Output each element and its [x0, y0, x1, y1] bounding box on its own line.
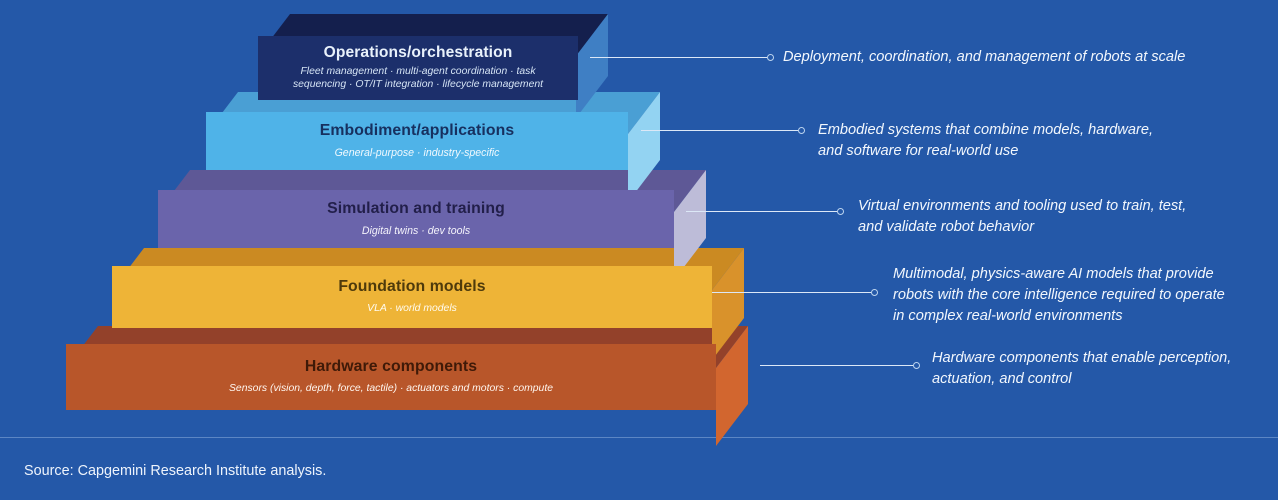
- callout-foundation: Multimodal, physics-aware AI models that…: [893, 264, 1225, 327]
- footer-divider: [0, 437, 1278, 438]
- layer-title-hardware: Hardware components: [305, 358, 477, 376]
- source-note: Source: Capgemini Research Institute ana…: [24, 463, 326, 479]
- layer-side-face-hardware: [716, 326, 752, 446]
- layer-front-face-simulation: Simulation and training Digital twins · …: [158, 190, 674, 248]
- layer-front-face-embodiment: Embodiment/applications General-purpose …: [206, 112, 628, 170]
- layer-front-face-foundation: Foundation models VLA · world models: [112, 266, 712, 328]
- connector-dot-simulation: [837, 208, 844, 215]
- connector-dot-embodiment: [798, 127, 805, 134]
- layer-subtitle-foundation: VLA · world models: [367, 302, 457, 315]
- layer-subtitle-embodiment: General-purpose · industry-specific: [335, 147, 500, 161]
- connector-dot-hardware: [913, 362, 920, 369]
- callout-embodiment: Embodied systems that combine models, ha…: [818, 120, 1153, 162]
- layer-subtitle-hardware: Sensors (vision, depth, force, tactile) …: [229, 382, 553, 395]
- layer-title-simulation: Simulation and training: [327, 200, 505, 218]
- connector-dot-foundation: [871, 289, 878, 296]
- layer-title-operations: Operations/orchestration: [324, 44, 513, 62]
- diagram-canvas: Operations/orchestration Fleet managemen…: [0, 0, 1278, 500]
- layer-subtitle-simulation: Digital twins · dev tools: [362, 225, 470, 239]
- layer-front-face-operations: Operations/orchestration Fleet managemen…: [258, 36, 578, 100]
- layer-front-face-hardware: Hardware components Sensors (vision, dep…: [66, 344, 716, 410]
- layer-side-face-embodiment: [628, 92, 664, 202]
- layer-side-face-simulation: [674, 170, 710, 280]
- pyramid-stack: Operations/orchestration Fleet managemen…: [0, 0, 1278, 432]
- layer-subtitle-operations: Fleet management · multi-agent coordinat…: [293, 65, 543, 92]
- layer-title-embodiment: Embodiment/applications: [320, 122, 515, 140]
- layer-side-face-operations: [576, 14, 612, 118]
- layer-title-foundation: Foundation models: [338, 278, 485, 296]
- callout-operations: Deployment, coordination, and management…: [783, 47, 1185, 68]
- callout-simulation: Virtual environments and tooling used to…: [858, 196, 1186, 238]
- callout-hardware: Hardware components that enable percepti…: [932, 348, 1231, 390]
- connector-dot-operations: [767, 54, 774, 61]
